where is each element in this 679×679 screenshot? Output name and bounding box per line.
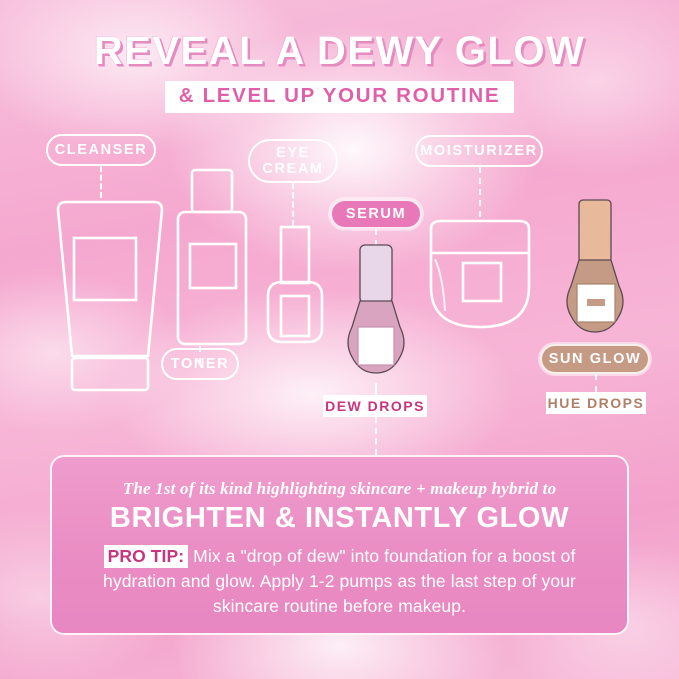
product-outline-cleanser [52,196,168,396]
page-title: REVEAL A DEWY GLOW [0,30,679,72]
product-label-hue-drops[interactable]: HUE DROPS [546,392,646,414]
panel-body: PRO TIP: Mix a "drop of dew" into founda… [78,544,601,619]
connector-dew-drops [375,383,377,395]
step-label-cleanser[interactable]: CLEANSER [46,134,156,166]
pro-tip-label: PRO TIP: [104,545,189,568]
info-panel: The 1st of its kind highlighting skincar… [50,455,629,635]
product-outline-moisturizer [423,215,537,335]
step-label-eye-cream-line2: CREAM [262,161,323,177]
step-label-eye-cream[interactable]: EYE CREAM [248,139,338,183]
product-label-dew-drops[interactable]: DEW DROPS [323,395,427,417]
panel-kicker: The 1st of its kind highlighting skincar… [78,479,601,499]
product-sun-glow[interactable] [553,198,637,346]
step-label-toner[interactable]: TONER [161,348,239,380]
step-label-sun-glow[interactable]: SUN GLOW [540,344,650,374]
step-label-serum[interactable]: SERUM [330,199,422,229]
step-label-moisturizer[interactable]: MOISTURIZER [415,135,543,167]
product-outline-eye-cream [262,224,328,346]
connector-cleanser [100,166,102,198]
connector-moisturizer [479,167,481,217]
page-subtitle: & LEVEL UP YOUR ROUTINE [165,81,515,113]
step-label-eye-cream-line1: EYE [276,145,310,161]
panel-headline: BRIGHTEN & INSTANTLY GLOW [78,503,601,533]
infographic-canvas: REVEAL A DEWY GLOW & LEVEL UP YOUR ROUTI… [0,0,679,679]
connector-dew-drops-to-panel [375,417,377,455]
connector-eye-cream [292,183,294,226]
connector-sun-glow [595,374,597,392]
product-outline-toner [166,166,260,350]
header: REVEAL A DEWY GLOW & LEVEL UP YOUR ROUTI… [0,30,679,113]
product-dew-drops[interactable] [334,243,418,385]
